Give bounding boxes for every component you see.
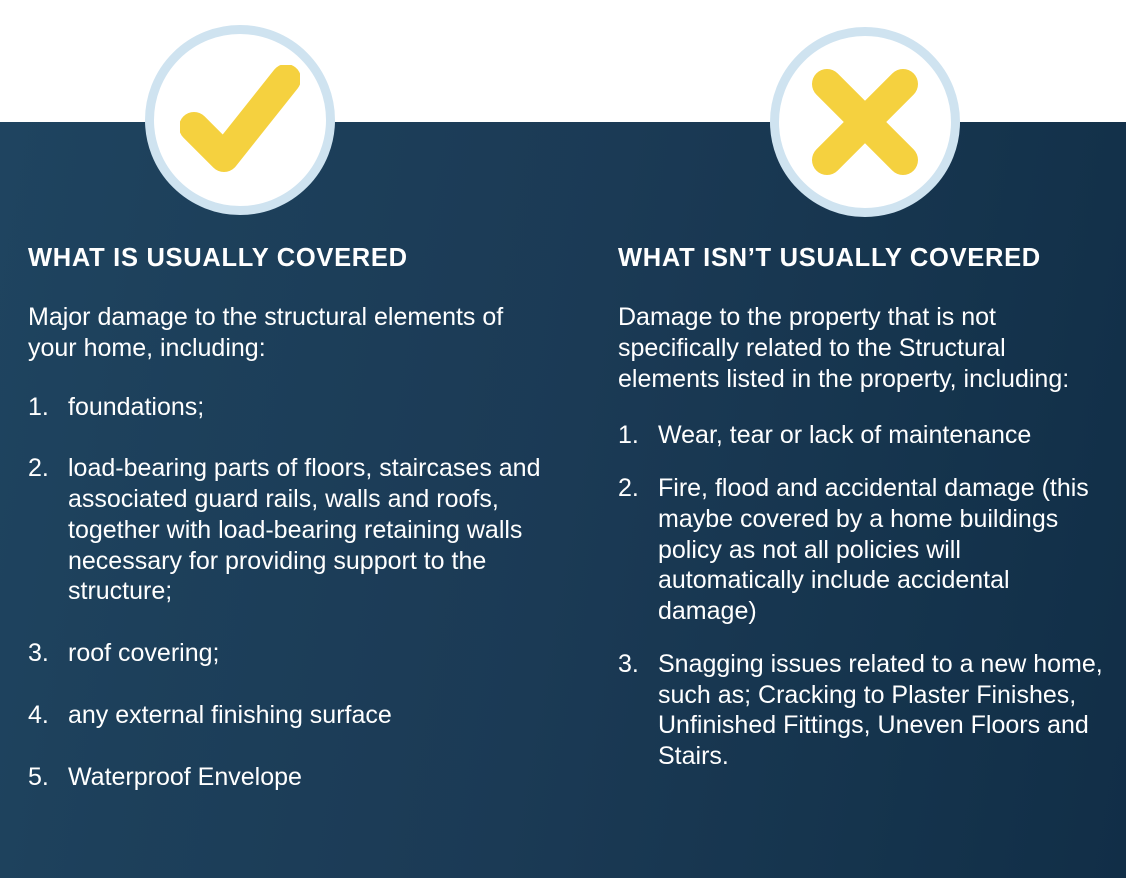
list-item: 1. Wear, tear or lack of maintenance [618,420,1110,451]
not-covered-intro: Damage to the property that is not speci… [618,302,1110,394]
cross-icon [809,66,921,178]
comparison-infographic: WHAT IS USUALLY COVERED Major damage to … [0,0,1126,878]
list-item: 4. any external finishing surface [28,700,556,731]
list-item-text: foundations; [68,392,556,423]
list-item: 3. roof covering; [28,638,556,669]
list-item: 5. Waterproof Envelope [28,762,556,793]
list-item-number: 5. [28,762,49,793]
covered-list: 1. foundations; 2. load-bearing parts of… [28,392,556,793]
list-item-text: Waterproof Envelope [68,762,556,793]
list-item-number: 2. [618,473,639,504]
list-item: 3. Snagging issues related to a new home… [618,649,1110,772]
covered-title: WHAT IS USUALLY COVERED [28,244,556,272]
list-item: 2. load-bearing parts of floors, stairca… [28,453,556,607]
list-item-number: 3. [618,649,639,680]
list-item-text: Wear, tear or lack of maintenance [658,420,1110,451]
list-item-number: 4. [28,700,49,731]
list-item-number: 2. [28,453,49,484]
list-item-number: 1. [28,392,49,423]
check-icon [180,65,300,175]
covered-intro: Major damage to the structural elements … [28,302,556,364]
not-covered-title: WHAT ISN’T USUALLY COVERED [618,244,1110,272]
list-item-number: 3. [28,638,49,669]
list-item: 2. Fire, flood and accidental damage (th… [618,473,1110,627]
list-item-text: Fire, flood and accidental damage (this … [658,473,1110,627]
list-item-text: Snagging issues related to a new home, s… [658,649,1110,772]
list-item-text: any external finishing surface [68,700,556,731]
not-covered-column: WHAT ISN’T USUALLY COVERED Damage to the… [618,244,1110,794]
covered-badge [145,25,335,215]
not-covered-badge [770,27,960,217]
covered-column: WHAT IS USUALLY COVERED Major damage to … [28,244,556,823]
list-item-number: 1. [618,420,639,451]
list-item-text: roof covering; [68,638,556,669]
list-item: 1. foundations; [28,392,556,423]
list-item-text: load-bearing parts of floors, staircases… [68,453,556,607]
not-covered-list: 1. Wear, tear or lack of maintenance 2. … [618,420,1110,772]
